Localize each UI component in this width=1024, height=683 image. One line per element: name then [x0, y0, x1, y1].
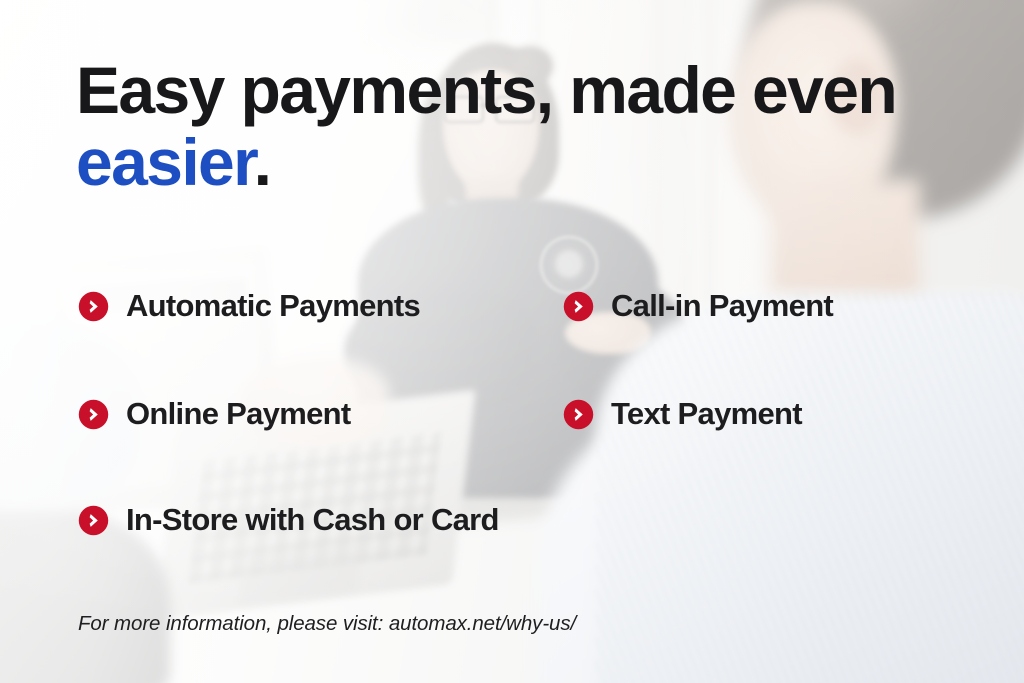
payment-option-in-store-cash-or-card[interactable]: In-Store with Cash or Card [78, 502, 499, 538]
payment-option-label: Automatic Payments [126, 288, 420, 324]
payment-option-label: In-Store with Cash or Card [126, 502, 499, 538]
headline-emphasis: easier [76, 125, 254, 199]
payment-option-call-in-payment[interactable]: Call-in Payment [563, 288, 833, 324]
payment-option-automatic-payments[interactable]: Automatic Payments [78, 288, 420, 324]
payment-option-label: Online Payment [126, 396, 351, 432]
chevron-right-circle-icon [78, 399, 109, 430]
chevron-right-circle-icon [78, 505, 109, 536]
promo-banner: Easy payments, made even easier. Automat… [0, 0, 1024, 683]
payment-option-label: Call-in Payment [611, 288, 833, 324]
headline-line-2: easier. [76, 130, 956, 194]
chevron-right-circle-icon [563, 291, 594, 322]
payment-option-label: Text Payment [611, 396, 802, 432]
banner-content: Easy payments, made even easier. Automat… [0, 0, 1024, 683]
footer-note: For more information, please visit: auto… [78, 612, 576, 636]
headline-line-1: Easy payments, made even [76, 53, 896, 127]
chevron-right-circle-icon [78, 291, 109, 322]
chevron-right-circle-icon [563, 399, 594, 430]
payment-option-text-payment[interactable]: Text Payment [563, 396, 802, 432]
headline: Easy payments, made even easier. [76, 58, 956, 194]
headline-period: . [254, 125, 271, 199]
payment-option-online-payment[interactable]: Online Payment [78, 396, 351, 432]
